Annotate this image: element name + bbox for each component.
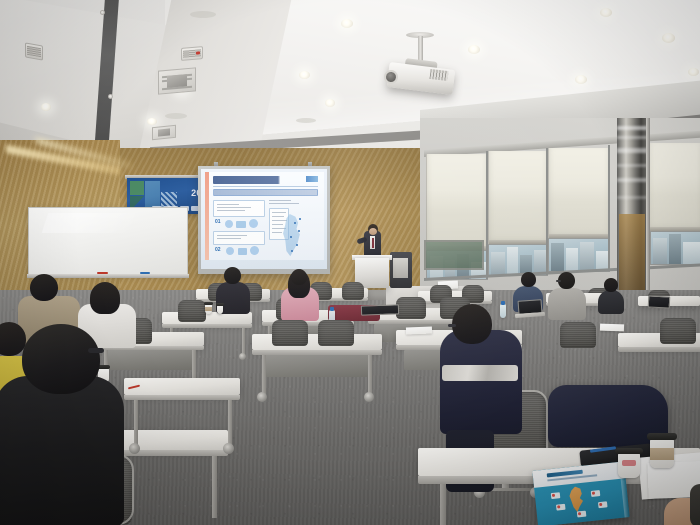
window-blind[interactable]	[648, 143, 700, 231]
cup-sleeve	[205, 307, 212, 311]
downlight	[341, 19, 353, 28]
slide-step-number: 02	[215, 247, 221, 253]
attendee-head	[452, 304, 492, 344]
booklet-marker	[577, 511, 587, 518]
attendee-foreground-left-black	[0, 376, 124, 525]
mirrored-column	[617, 118, 647, 318]
slide-logo	[306, 176, 318, 182]
downlight	[299, 71, 310, 79]
attendee-head	[224, 267, 241, 284]
booklet-map-graphic	[564, 485, 591, 513]
hvac-vent	[158, 67, 196, 94]
chair[interactable]	[396, 297, 426, 319]
attendee-hair	[90, 282, 120, 314]
downlight	[662, 33, 675, 43]
front-green-board	[424, 240, 484, 270]
hvac-vent	[152, 125, 176, 141]
booklet-marker	[551, 492, 561, 499]
whiteboard-marker	[140, 272, 150, 274]
cup-lid	[216, 303, 224, 306]
slide-card	[213, 231, 265, 245]
banner-logo-shape	[130, 181, 144, 195]
chair[interactable]	[318, 320, 354, 346]
downlight	[688, 68, 699, 76]
attendee-head	[291, 269, 307, 285]
slide-map-marker	[291, 250, 293, 252]
ceiling-ring-detail	[296, 118, 316, 123]
attendee-right-gray-sweater	[548, 288, 586, 320]
attendee-back-right-dark	[598, 290, 624, 314]
attendee-head	[22, 324, 100, 394]
slide-figure-icon	[226, 247, 234, 255]
slide-figure-icon	[250, 246, 259, 255]
smoke-detector-icon	[100, 10, 105, 15]
chair[interactable]	[660, 318, 696, 344]
window-mullion	[546, 148, 548, 275]
av-control-panel	[393, 258, 408, 278]
window-mullion	[608, 145, 610, 271]
downlight	[600, 8, 612, 17]
desk-caster	[239, 353, 246, 360]
ceiling-speaker	[25, 42, 43, 60]
cup-lid	[615, 448, 643, 454]
downlight	[575, 75, 587, 84]
desk-leg	[368, 355, 372, 395]
whiteboard-marker	[97, 272, 108, 274]
attendee-head	[521, 272, 536, 287]
projector-vent	[429, 69, 448, 81]
paper-sheet	[600, 324, 624, 332]
window-glass	[650, 231, 700, 265]
chair[interactable]	[178, 300, 206, 322]
downlight	[147, 118, 157, 125]
presenter-tie	[372, 238, 374, 248]
attendee-head	[604, 278, 618, 292]
downlight	[468, 45, 480, 54]
desk-caster	[257, 392, 267, 402]
desk-edge	[618, 347, 700, 352]
slide-accent-bar	[205, 172, 209, 260]
program-booklet[interactable]	[532, 461, 629, 525]
slide-figure-icon	[236, 221, 246, 228]
slide-figure-icon	[249, 219, 258, 228]
window-blind[interactable]	[548, 148, 610, 238]
cup-lid	[647, 433, 677, 440]
desk-leg	[262, 355, 266, 395]
desk	[124, 378, 240, 395]
desk-leg	[134, 400, 138, 446]
whiteboard	[28, 207, 188, 275]
slide-map-marker	[299, 218, 301, 220]
laptop-screen[interactable]	[361, 304, 399, 315]
slide-figure-icon	[225, 220, 233, 228]
desk-modesty-panel	[104, 350, 194, 370]
attendee-foreground-right-sleeve	[690, 484, 700, 525]
slide-left-column: 01 02	[213, 200, 265, 256]
cup-lid	[204, 302, 213, 305]
downlight	[325, 99, 335, 107]
slide-figure-icon	[238, 248, 247, 255]
eyeglasses-icon	[88, 348, 104, 353]
desk-caster	[129, 443, 140, 454]
lecture-hall-photo: 202 01	[0, 0, 700, 525]
coffee-cup[interactable]	[217, 305, 223, 314]
cup-logo	[622, 460, 636, 466]
desk-leg	[440, 484, 446, 525]
window-mullion	[486, 151, 488, 279]
desk-leg	[228, 400, 232, 446]
slide-right-column	[269, 200, 318, 256]
presenter-face	[369, 228, 377, 235]
bottle-cap	[330, 307, 334, 311]
projected-slide: 01 02	[205, 172, 324, 260]
slide-map-marker	[294, 222, 296, 224]
window-blind[interactable]	[426, 154, 488, 250]
booklet-marker	[591, 490, 601, 497]
desk-modesty-panel	[262, 355, 372, 377]
desk-caster	[223, 443, 234, 454]
ceiling-speaker	[181, 46, 203, 61]
chair[interactable]	[342, 282, 364, 300]
slide-card	[213, 200, 265, 217]
desk-edge	[124, 395, 240, 400]
slide-rule	[213, 186, 318, 187]
chair[interactable]	[560, 322, 596, 348]
desk-leg	[212, 456, 217, 518]
cup-sleeve	[650, 448, 674, 460]
window-blind[interactable]	[488, 151, 548, 244]
slide-step-number: 01	[215, 219, 221, 225]
booklet-marker	[556, 504, 566, 511]
booklet-marker	[598, 501, 608, 508]
attendee-head	[30, 274, 58, 301]
eyeglasses-icon	[448, 324, 456, 327]
downlight	[41, 103, 51, 111]
slide-map-marker	[290, 236, 292, 238]
slide-question-box	[213, 189, 318, 196]
laptop-screen[interactable]	[648, 295, 671, 308]
slide-map-marker	[298, 230, 300, 232]
attendee-jacket-stripe	[442, 365, 518, 381]
paper-sheet	[406, 327, 432, 335]
slide-title-bar	[213, 176, 318, 184]
slide-map-marker	[296, 244, 298, 246]
desk-leg	[242, 328, 245, 354]
desk-edge	[162, 324, 252, 328]
window-glass	[548, 238, 610, 272]
attendee-right-navy	[440, 330, 522, 434]
bottle-cap	[501, 301, 505, 305]
eyeglasses-icon	[556, 280, 561, 282]
water-bottle[interactable]	[500, 304, 506, 318]
smoke-detector-icon	[108, 94, 113, 99]
chair[interactable]	[272, 320, 308, 346]
column-edge	[646, 118, 650, 318]
ceiling-ring-detail	[190, 11, 216, 18]
desk-caster	[364, 392, 374, 402]
ceiling-ring-detail	[165, 113, 187, 119]
